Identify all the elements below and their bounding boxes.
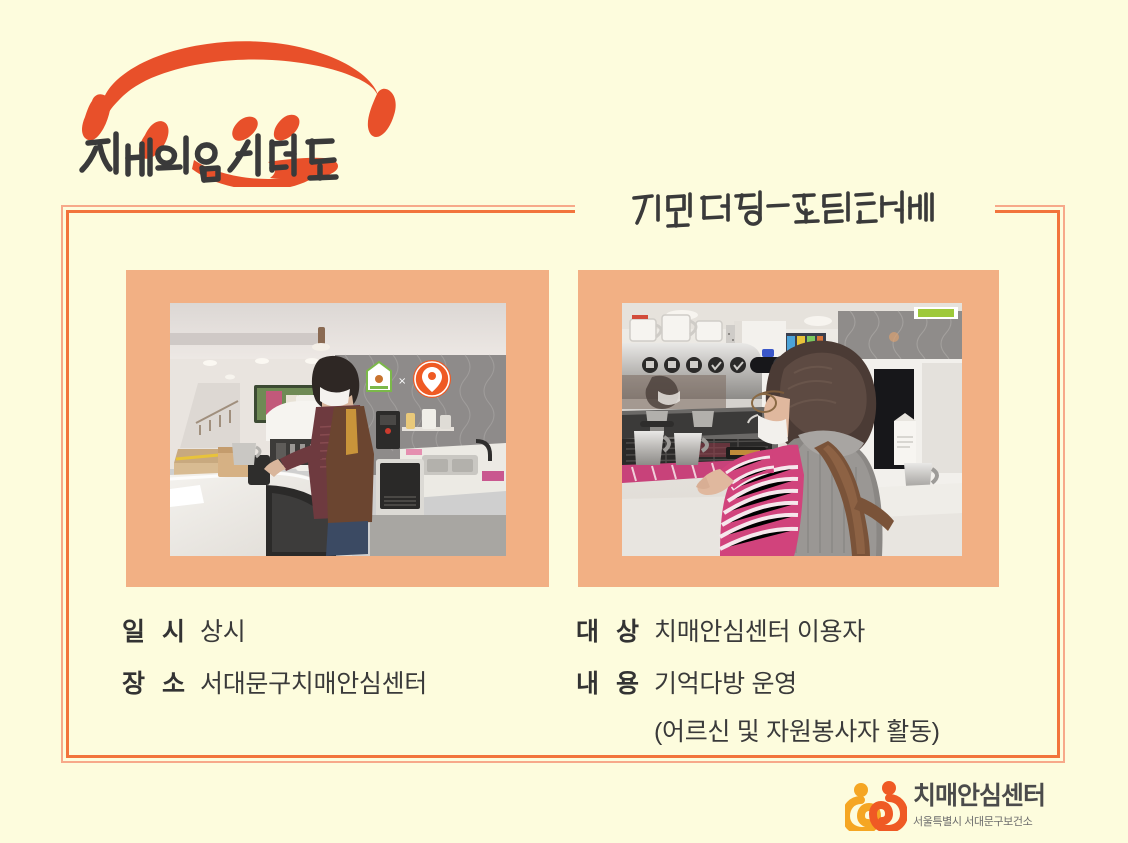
footer-logo-title: 치매안심센터 (913, 783, 1045, 809)
footer-logo-subtitle: 서울특별시 서대문구보건소 (913, 813, 1045, 829)
info-value-place: 서대문구치매안심센터 (200, 664, 427, 700)
info-row-content: 내 용 기억다방 운영 (576, 664, 940, 700)
frame-right-line (1057, 210, 1060, 758)
photo-left-illustration: × (170, 303, 506, 556)
info-row-target: 대 상 치매안심센터 이용자 (576, 612, 940, 648)
footer-logo-text: 치매안심센터 서울특별시 서대문구보건소 (913, 783, 1045, 828)
frame-right-outer-line (1063, 205, 1065, 763)
info-value-target: 치매안심센터 이용자 (654, 612, 865, 648)
info-row-date: 일 시 상시 (122, 612, 427, 648)
photo-senior-operating-espresso-machine (622, 303, 962, 556)
header-logo (72, 22, 402, 187)
frame-left-line (66, 210, 69, 758)
info-label-content: 내 용 (576, 664, 654, 700)
info-value-content: 기억다방 운영 (654, 664, 797, 700)
poster-title (628, 186, 938, 232)
frame-top-left-line (66, 210, 575, 213)
info-row-place: 장 소 서대문구치매안심센터 (122, 664, 427, 700)
info-block-right: 대 상 치매안심센터 이용자 내 용 기억다방 운영 (어르신 및 자원봉사자 … (576, 612, 940, 748)
frame-bottom-outer-line (61, 761, 1065, 763)
header-logo-mark (72, 22, 402, 187)
frame-top-left-outer-line (61, 205, 575, 207)
frame-top-right-outer-line (995, 205, 1065, 207)
info-block-left: 일 시 상시 장 소 서대문구치매안심센터 (122, 612, 427, 716)
footer-logo: 치매안심센터 서울특별시 서대문구보건소 (845, 778, 1060, 834)
frame-left-outer-line (61, 205, 63, 763)
photo-right-illustration (622, 303, 962, 556)
info-label-date: 일 시 (122, 612, 200, 648)
photo-barista-at-cafe-counter: × (170, 303, 506, 556)
info-value-content-note: (어르신 및 자원봉사자 활동) (654, 712, 940, 748)
svg-text:×: × (398, 376, 406, 387)
info-label-target: 대 상 (576, 612, 654, 648)
info-label-place: 장 소 (122, 664, 200, 700)
poster-title-handwriting (628, 186, 938, 232)
info-value-date: 상시 (200, 612, 245, 648)
frame-bottom-line (66, 755, 1060, 758)
frame-top-right-line (995, 210, 1060, 213)
dementia-center-mark-icon (845, 781, 907, 831)
